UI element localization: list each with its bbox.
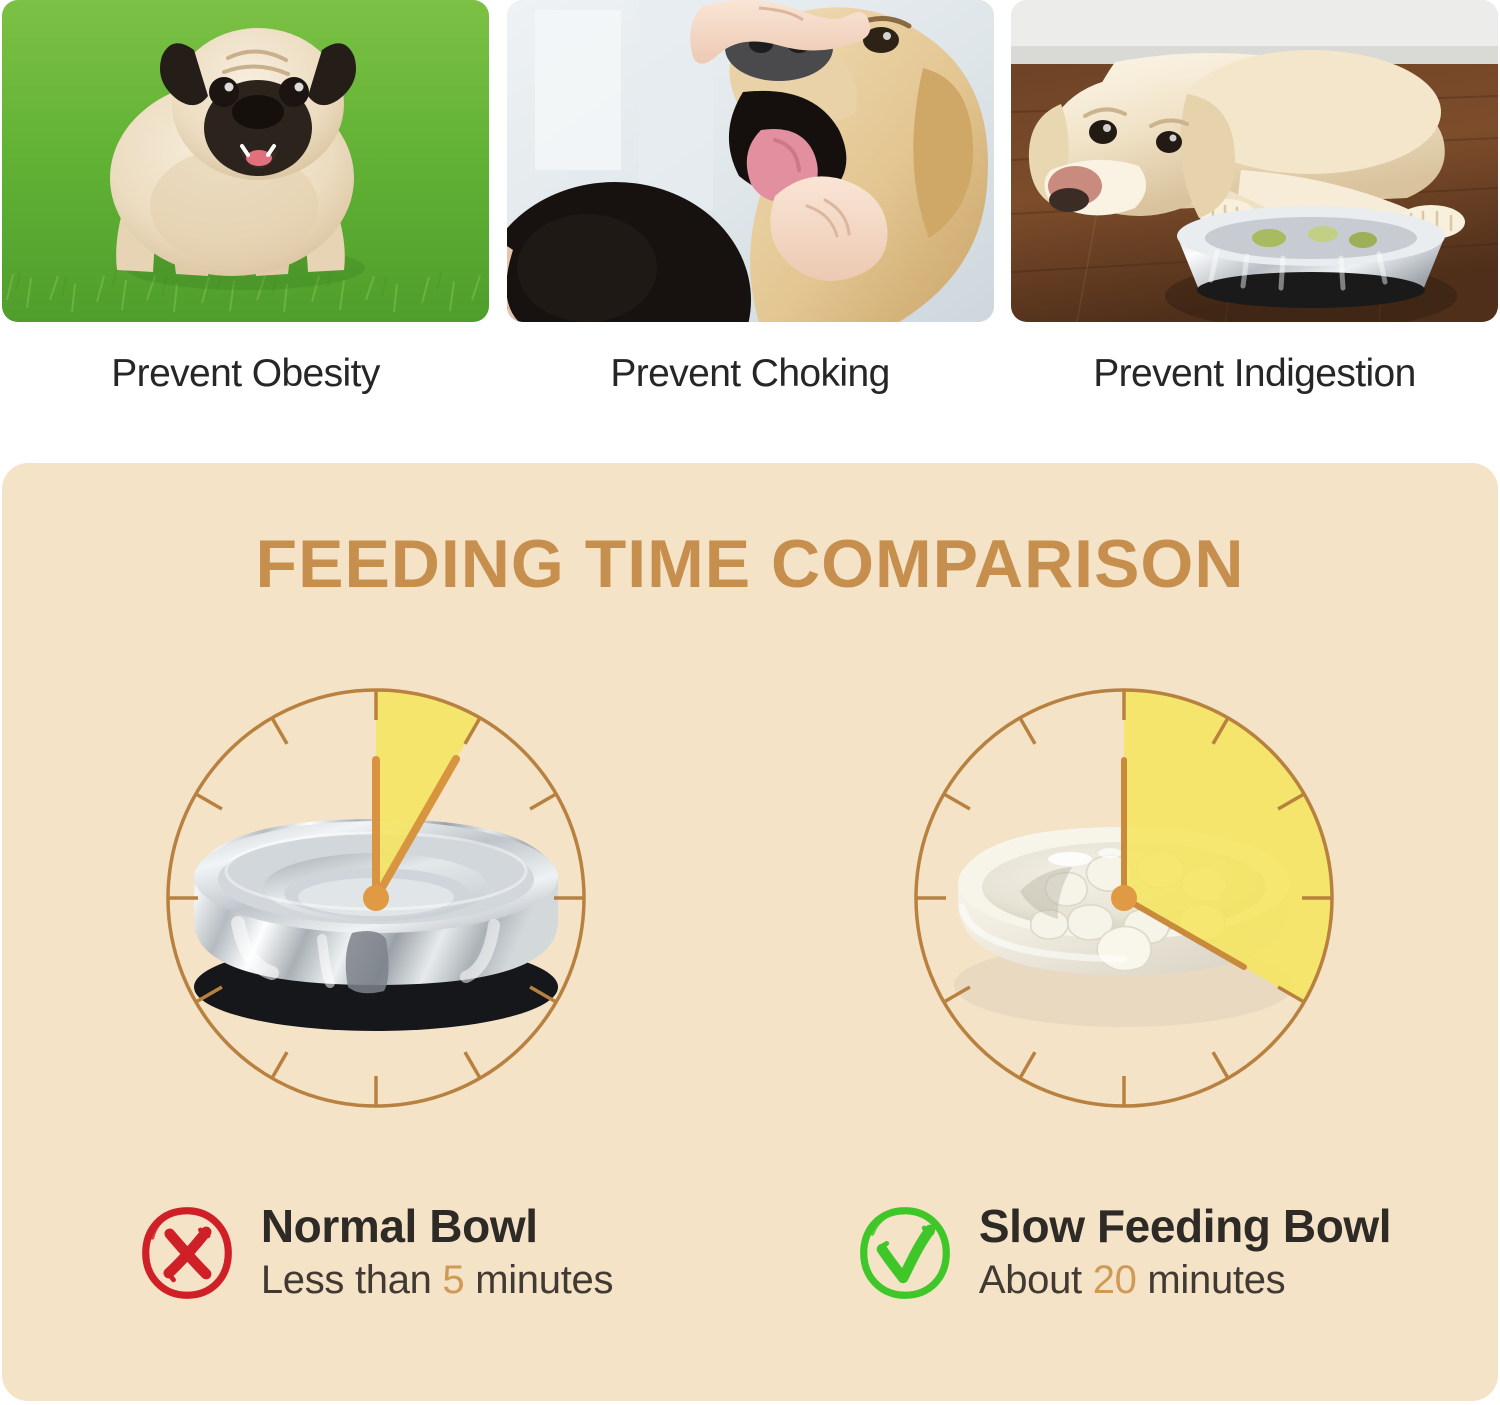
clock-dials-row (2, 678, 1498, 1128)
result-title: Normal Bowl (261, 1201, 613, 1252)
clock-slow-feeding-bowl (904, 678, 1344, 1118)
benefit-card-indigestion: Prevent Indigestion (1011, 0, 1498, 440)
green-circle-check-icon (857, 1205, 953, 1301)
benefit-caption: Prevent Choking (610, 352, 889, 396)
clock-cell-slow-feeding-bowl (750, 678, 1498, 1128)
result-slow-feeding-bowl: Slow Feeding Bowl About 20 minutes (750, 1183, 1498, 1323)
result-sub-prefix: About (979, 1258, 1093, 1302)
clock-normal-bowl (156, 678, 596, 1118)
benefits-strip: Prevent Obesity (0, 0, 1500, 440)
result-sub-value: 20 (1093, 1258, 1137, 1302)
clock-dial-slow-feeding-bowl (904, 678, 1344, 1118)
sad-labrador-photo (1011, 0, 1498, 322)
benefit-caption: Prevent Indigestion (1093, 352, 1415, 396)
result-title: Slow Feeding Bowl (979, 1201, 1391, 1252)
result-subtitle: About 20 minutes (979, 1255, 1391, 1305)
clock-center-pin (1111, 885, 1137, 911)
result-sub-prefix: Less than (261, 1258, 443, 1302)
choking-dog-photo (507, 0, 994, 322)
clock-cell-normal-bowl (2, 678, 750, 1128)
panel-title: FEEDING TIME COMPARISON (2, 525, 1498, 603)
red-circle-x-icon (139, 1205, 235, 1301)
feeding-time-comparison-panel: FEEDING TIME COMPARISON (2, 463, 1498, 1401)
clock-dial-normal-bowl (156, 678, 596, 1118)
results-row: Normal Bowl Less than 5 minutes (2, 1183, 1498, 1323)
benefit-card-obesity: Prevent Obesity (2, 0, 489, 440)
result-subtitle: Less than 5 minutes (261, 1255, 613, 1305)
result-normal-bowl: Normal Bowl Less than 5 minutes (2, 1183, 750, 1323)
result-sub-suffix: minutes (1137, 1258, 1286, 1302)
benefit-caption: Prevent Obesity (111, 352, 379, 396)
result-sub-suffix: minutes (464, 1258, 613, 1302)
benefit-card-choking: Prevent Choking (507, 0, 994, 440)
overweight-pug-photo (2, 0, 489, 322)
result-sub-value: 5 (442, 1258, 464, 1302)
clock-center-pin (363, 885, 389, 911)
